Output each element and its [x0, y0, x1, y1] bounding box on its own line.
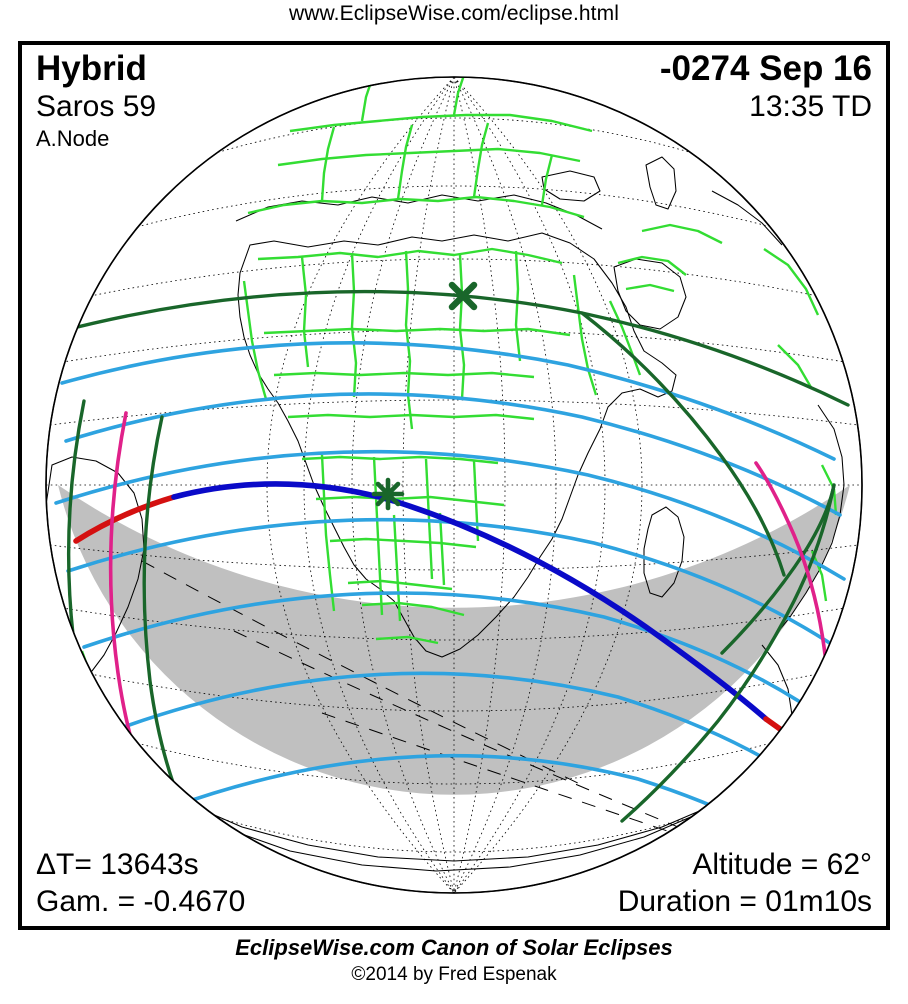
eclipse-type-label: Hybrid: [36, 49, 156, 89]
central-path-sunset-segment: [766, 719, 822, 759]
eclipse-date-block: -0274 Sep 16 13:35 TD: [660, 49, 872, 125]
footer-credits: EclipseWise.com Canon of Solar Eclipses …: [0, 934, 908, 988]
globe-map: [22, 45, 886, 926]
node-label: A.Node: [36, 125, 156, 153]
gamma-label: Gam. = -0.4670: [36, 883, 245, 920]
altitude-label: Altitude = 62°: [618, 846, 872, 883]
eclipse-date-label: -0274 Sep 16: [660, 49, 872, 89]
source-url: www.EclipseWise.com/eclipse.html: [0, 2, 908, 26]
eclipse-parameters-right: Altitude = 62° Duration = 01m10s: [618, 846, 872, 920]
eclipse-parameters-left: ΔT= 13643s Gam. = -0.4670: [36, 846, 245, 920]
eclipse-type-block: Hybrid Saros 59 A.Node: [36, 49, 156, 153]
eclipse-map-page: www.EclipseWise.com/eclipse.html: [0, 0, 908, 1004]
copyright-label: ©2014 by Fred Espenak: [0, 962, 908, 988]
subsolar-point-marker: [374, 480, 402, 508]
duration-label: Duration = 01m10s: [618, 883, 872, 920]
saros-label: Saros 59: [36, 89, 156, 125]
eclipse-time-label: 13:35 TD: [660, 89, 872, 125]
canon-title: EclipseWise.com Canon of Solar Eclipses: [0, 934, 908, 962]
globe-svg: [22, 45, 886, 926]
delta-t-label: ΔT= 13643s: [36, 846, 245, 883]
eclipse-diagram-frame: Hybrid Saros 59 A.Node -0274 Sep 16 13:3…: [18, 41, 890, 930]
